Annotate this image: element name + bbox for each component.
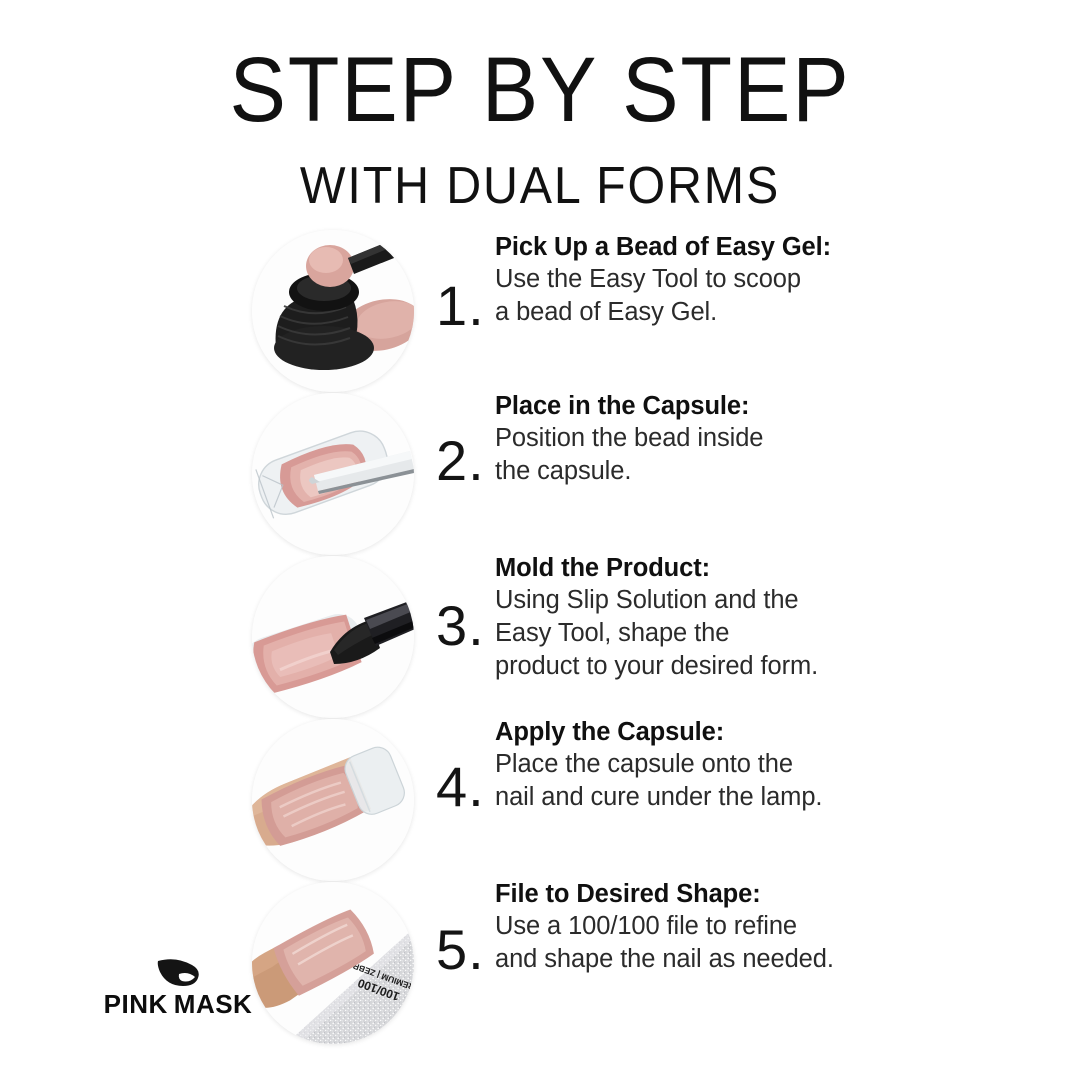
step-body: Position the bead inside the capsule. [495,422,925,488]
step-body: Using Slip Solution and the Easy Tool, s… [495,584,925,683]
steps-list: 1. Pick Up a Bead of Easy Gel: Use the E… [0,228,1080,1043]
step-number: 1. [436,278,492,334]
apply-nail-illustration [252,719,414,881]
step-photo-capsule-fill [252,393,414,555]
step-body-line: Use the Easy Tool to scoop [495,263,925,296]
header: STEP BY STEP WITH DUAL FORMS [0,0,1080,212]
step-number: 4. [436,759,492,815]
step-body-line: the capsule. [495,455,925,488]
brand-logo: PINKMASK [78,957,278,1020]
step-body-line: and shape the nail as needed. [495,943,925,976]
step-item-4: 4. Apply the Capsule: Place the capsule … [0,717,1080,880]
step-text-block: Apply the Capsule: Place the capsule ont… [495,717,925,814]
step-number: 3. [436,598,492,654]
logo-word-mask: MASK [174,989,253,1019]
step-number: 2. [436,433,492,489]
step-body-line: product to your desired form. [495,650,925,683]
step-text-block: Pick Up a Bead of Easy Gel: Use the Easy… [495,232,925,329]
step-photo-mold-brush [252,556,414,718]
step-body-line: Use a 100/100 file to refine [495,910,925,943]
step-body-line: a bead of Easy Gel. [495,296,925,329]
logo-word-pink: PINK [104,989,168,1019]
step-text-block: Mold the Product: Using Slip Solution an… [495,553,925,683]
step-item-3: 3. Mold the Product: Using Slip Solution… [0,554,1080,717]
step-body-line: Using Slip Solution and the [495,584,925,617]
step-text-block: File to Desired Shape: Use a 100/100 fil… [495,879,925,976]
gel-tube-illustration [252,230,414,392]
step-number: 5. [436,922,492,978]
step-heading: File to Desired Shape: [495,879,925,910]
step-heading: Pick Up a Bead of Easy Gel: [495,232,925,263]
mold-brush-illustration [252,556,414,718]
step-body: Use a 100/100 file to refine and shape t… [495,910,925,976]
step-body: Place the capsule onto the nail and cure… [495,748,925,814]
logo-wordmark: PINKMASK [78,989,278,1020]
step-photo-apply-nail [252,719,414,881]
step-text-block: Place in the Capsule: Position the bead … [495,391,925,488]
step-item-1: 1. Pick Up a Bead of Easy Gel: Use the E… [0,228,1080,391]
step-photo-gel-tube [252,230,414,392]
page-subtitle: WITH DUAL FORMS [38,160,1042,212]
step-body-line: Place the capsule onto the [495,748,925,781]
step-heading: Apply the Capsule: [495,717,925,748]
leaf-eye-icon [155,957,201,987]
step-body-line: Position the bead inside [495,422,925,455]
capsule-fill-illustration [252,393,414,555]
page-title: STEP BY STEP [43,44,1037,136]
step-body-line: nail and cure under the lamp. [495,781,925,814]
step-heading: Place in the Capsule: [495,391,925,422]
step-heading: Mold the Product: [495,553,925,584]
step-body-line: Easy Tool, shape the [495,617,925,650]
step-body: Use the Easy Tool to scoop a bead of Eas… [495,263,925,329]
step-item-2: 2. Place in the Capsule: Position the be… [0,391,1080,554]
